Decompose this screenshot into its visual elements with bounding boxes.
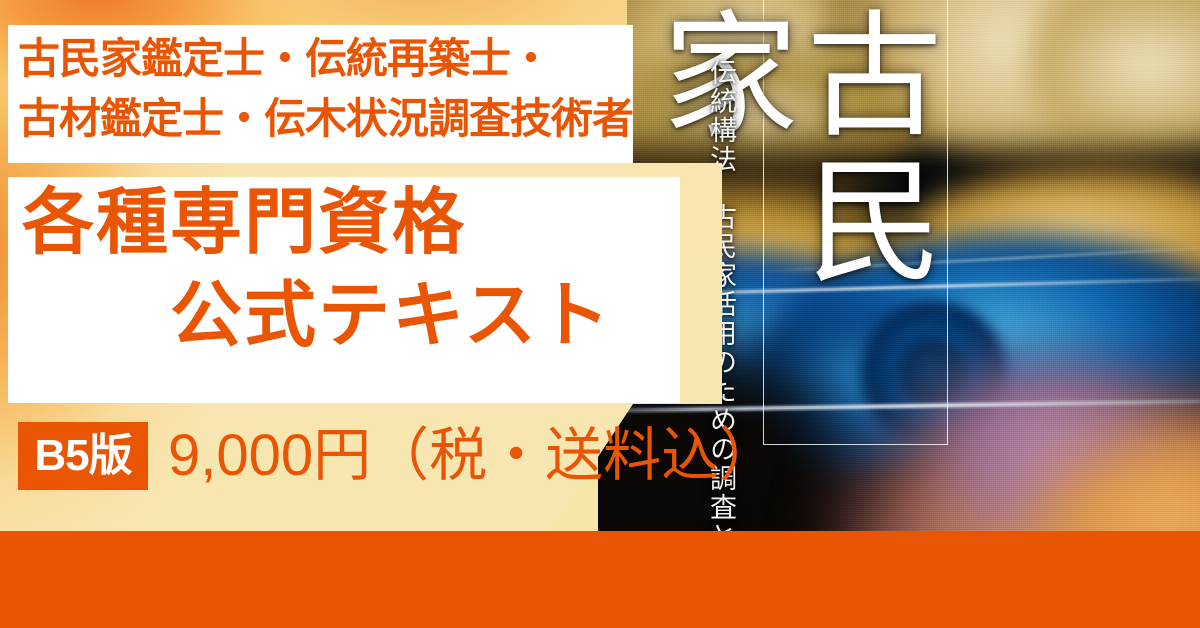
cover-title-vertical: 古民家 [778,4,933,434]
format-badge: B5版 [18,422,148,490]
promo-banner: 古民家 伝統構法 古民家活用のための調査と再生の 古民家鑑定士・伝統再築士・ 古… [0,0,1200,628]
headline-line-2: 公式テキスト [0,277,690,356]
certifications-line-2: 古材鑑定士・伝木状況調査技術者 [18,89,718,149]
cta-bar[interactable]: 詳細・ご購入はこちら [0,531,1200,628]
headline-text: 各種専門資格 公式テキスト [0,184,690,356]
certifications-line-1: 古民家鑑定士・伝統再築士・ [18,29,718,89]
certifications-text: 古民家鑑定士・伝統再築士・ 古材鑑定士・伝木状況調査技術者 [18,29,718,149]
headline-line-1: 各種専門資格 [0,184,690,263]
price-text: 9,000円（税・送料込） [168,424,777,488]
